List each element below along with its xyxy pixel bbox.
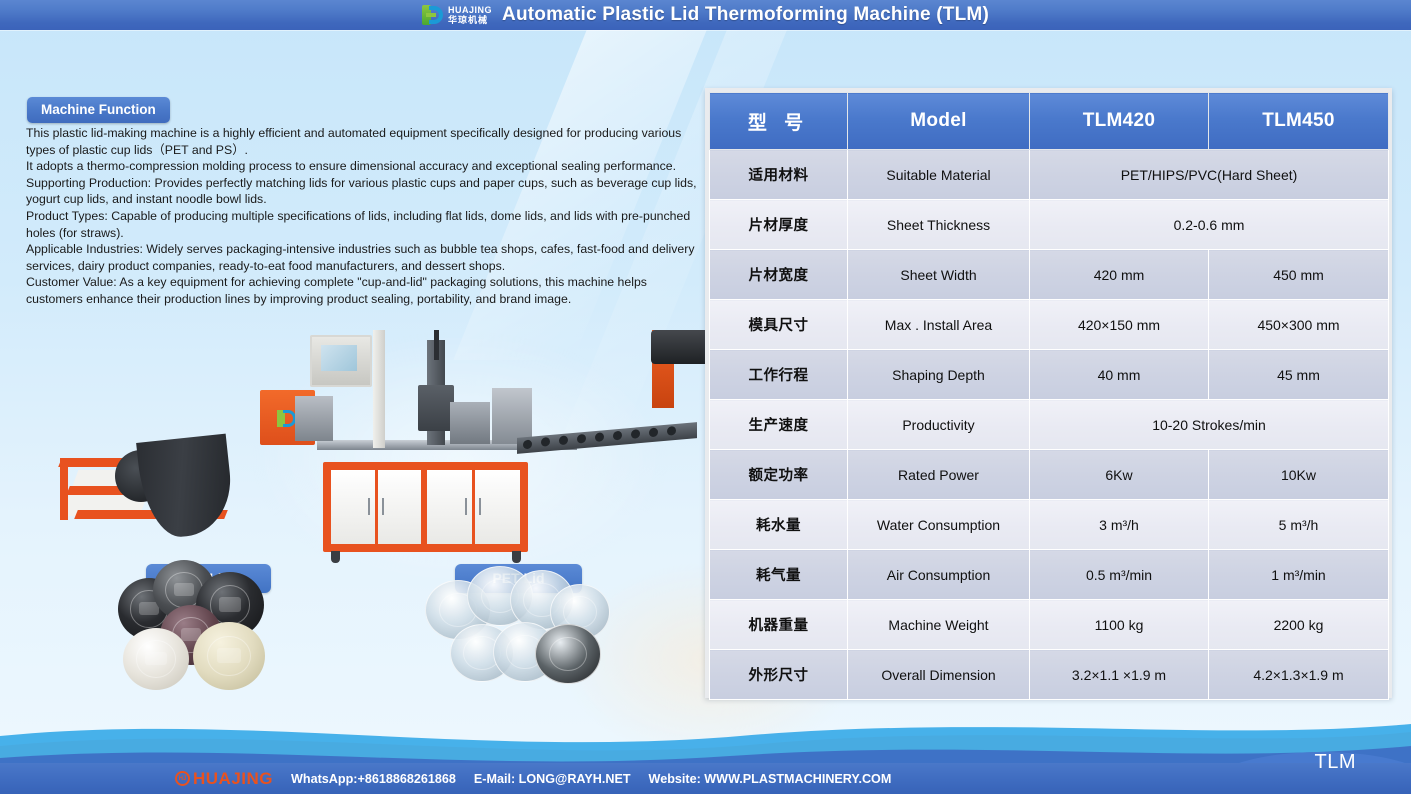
table-row: 外形尺寸Overall Dimension3.2×1.1 ×1.9 m4.2×1… xyxy=(710,650,1389,700)
spec-label-en: Productivity xyxy=(848,400,1030,450)
spec-value-tlm420: 6Kw xyxy=(1030,450,1209,500)
spec-value-shared: 0.2-0.6 mm xyxy=(1030,200,1389,250)
spec-label-en: Sheet Thickness xyxy=(848,200,1030,250)
tlm-badge: TLM xyxy=(1315,751,1357,774)
footer-logo: HJ HUAJING xyxy=(175,769,273,789)
door-split-right xyxy=(472,470,475,544)
footer-whatsapp[interactable]: WhatsApp:+8618868261868 xyxy=(291,772,456,786)
footer-brand-name: HUAJING xyxy=(193,769,273,789)
header-tlm450: TLM450 xyxy=(1209,93,1389,150)
spec-table-container: 型 号 Model TLM420 TLM450 适用材料Suitable Mat… xyxy=(705,88,1392,698)
spec-value-tlm450: 1 m³/min xyxy=(1209,550,1389,600)
table-row: 生产速度Productivity10-20 Strokes/min xyxy=(710,400,1389,450)
spec-value-tlm450: 450 mm xyxy=(1209,250,1389,300)
spec-value-tlm450: 45 mm xyxy=(1209,350,1389,400)
spec-label-en: Sheet Width xyxy=(848,250,1030,300)
spec-label-en: Air Consumption xyxy=(848,550,1030,600)
machine-illustration xyxy=(55,330,675,570)
spec-label-cn: 片材宽度 xyxy=(710,250,848,300)
ps-lid-photo-group xyxy=(118,560,298,695)
spec-value-shared: 10-20 Strokes/min xyxy=(1030,400,1389,450)
door-split-left xyxy=(375,470,378,544)
door-handle-4 xyxy=(479,498,481,515)
mf-line-2: It adopts a thermo-compression molding p… xyxy=(26,158,702,175)
footer-email[interactable]: E-Mail: LONG@RAYH.NET xyxy=(474,772,631,786)
mf-line-1: This plastic lid-making machine is a hig… xyxy=(26,125,702,158)
footer-bar: HJ HUAJING WhatsApp:+8618868261868 E-Mai… xyxy=(0,763,1411,794)
table-row: 片材宽度Sheet Width420 mm450 mm xyxy=(710,250,1389,300)
pet-lid-photo-group xyxy=(425,562,610,690)
spec-value-tlm450: 2200 kg xyxy=(1209,600,1389,650)
spec-label-cn: 机器重量 xyxy=(710,600,848,650)
table-row: 适用材料Suitable MaterialPET/HIPS/PVC(Hard S… xyxy=(710,150,1389,200)
spec-label-en: Overall Dimension xyxy=(848,650,1030,700)
feed-mechanism xyxy=(295,396,333,441)
table-header-row: 型 号 Model TLM420 TLM450 xyxy=(710,93,1389,150)
press-rod xyxy=(434,330,439,360)
spec-label-cn: 额定功率 xyxy=(710,450,848,500)
huajing-logo: HUAJING 华琼机械 xyxy=(422,5,492,25)
table-row: 片材厚度Sheet Thickness0.2-0.6 mm xyxy=(710,200,1389,250)
spec-label-cn: 生产速度 xyxy=(710,400,848,450)
control-panel-screen xyxy=(321,345,357,371)
cabinet-logo-icon xyxy=(277,410,297,427)
spec-value-tlm420: 420×150 mm xyxy=(1030,300,1209,350)
spec-label-en: Max . Install Area xyxy=(848,300,1030,350)
spec-value-tlm420: 3 m³/h xyxy=(1030,500,1209,550)
spec-label-cn: 耗气量 xyxy=(710,550,848,600)
spec-value-tlm450: 5 m³/h xyxy=(1209,500,1389,550)
table-row: 耗气量Air Consumption0.5 m³/min1 m³/min xyxy=(710,550,1389,600)
mf-line-6: Customer Value: As a key equipment for a… xyxy=(26,274,702,307)
cutting-station xyxy=(450,402,490,444)
page-title: Automatic Plastic Lid Thermoforming Mach… xyxy=(502,4,989,26)
plastic-film-web xyxy=(136,434,236,541)
spec-value-tlm450: 450×300 mm xyxy=(1209,300,1389,350)
output-conveyor xyxy=(517,422,697,454)
huajing-logo-icon xyxy=(422,5,444,25)
spec-value-tlm420: 3.2×1.1 ×1.9 m xyxy=(1030,650,1209,700)
spec-label-en: Water Consumption xyxy=(848,500,1030,550)
ps-lid-cream-1 xyxy=(193,622,265,690)
door-handle-2 xyxy=(382,498,384,515)
table-row: 工作行程Shaping Depth40 mm45 mm xyxy=(710,350,1389,400)
spec-table-body: 适用材料Suitable MaterialPET/HIPS/PVC(Hard S… xyxy=(710,150,1389,700)
header-model-cn: 型 号 xyxy=(710,93,848,150)
spec-value-tlm450: 10Kw xyxy=(1209,450,1389,500)
header-tlm420: TLM420 xyxy=(1030,93,1209,150)
spec-label-cn: 耗水量 xyxy=(710,500,848,550)
stacking-station xyxy=(492,388,532,444)
machine-function-text: This plastic lid-making machine is a hig… xyxy=(26,125,702,308)
spec-value-tlm450: 4.2×1.3×1.9 m xyxy=(1209,650,1389,700)
machine-function-badge: Machine Function xyxy=(27,97,170,123)
spec-value-tlm420: 40 mm xyxy=(1030,350,1209,400)
door-handle-1 xyxy=(368,498,370,515)
spec-value-tlm420: 420 mm xyxy=(1030,250,1209,300)
mf-line-5: Applicable Industries: Widely serves pac… xyxy=(26,241,702,274)
huajing-logo-text: HUAJING 华琼机械 xyxy=(448,6,492,25)
spec-value-shared: PET/HIPS/PVC(Hard Sheet) xyxy=(1030,150,1389,200)
footer-website[interactable]: Website: WWW.PLASTMACHINERY.COM xyxy=(649,772,892,786)
spec-label-cn: 模具尺寸 xyxy=(710,300,848,350)
spec-label-en: Shaping Depth xyxy=(848,350,1030,400)
pet-lid-7 xyxy=(535,624,601,684)
door-handle-3 xyxy=(465,498,467,515)
table-row: 耗水量Water Consumption3 m³/h5 m³/h xyxy=(710,500,1389,550)
mf-line-4: Product Types: Capable of producing mult… xyxy=(26,208,702,241)
spec-label-cn: 片材厚度 xyxy=(710,200,848,250)
table-row: 额定功率Rated Power6Kw10Kw xyxy=(710,450,1389,500)
press-head xyxy=(418,385,454,431)
logo-text-cn: 华琼机械 xyxy=(448,16,492,25)
ps-lid-white-1 xyxy=(123,628,189,690)
title-bar: HUAJING 华琼机械 Automatic Plastic Lid Therm… xyxy=(0,0,1411,30)
slide-canvas: HUAJING 华琼机械 Automatic Plastic Lid Therm… xyxy=(0,0,1411,794)
spec-label-en: Machine Weight xyxy=(848,600,1030,650)
mf-line-3: Supporting Production: Provides perfectl… xyxy=(26,175,702,208)
spec-label-en: Rated Power xyxy=(848,450,1030,500)
spec-label-cn: 工作行程 xyxy=(710,350,848,400)
spec-label-cn: 外形尺寸 xyxy=(710,650,848,700)
table-row: 模具尺寸Max . Install Area420×150 mm450×300 … xyxy=(710,300,1389,350)
spec-label-cn: 适用材料 xyxy=(710,150,848,200)
support-post xyxy=(373,330,385,448)
logo-text-en: HUAJING xyxy=(448,6,492,15)
cabinet-foot-left xyxy=(331,551,340,563)
spec-value-tlm420: 0.5 m³/min xyxy=(1030,550,1209,600)
footer-logo-icon: HJ xyxy=(175,771,190,786)
spec-label-en: Suitable Material xyxy=(848,150,1030,200)
table-row: 机器重量Machine Weight1100 kg2200 kg xyxy=(710,600,1389,650)
spec-table: 型 号 Model TLM420 TLM450 适用材料Suitable Mat… xyxy=(709,92,1389,700)
header-model-en: Model xyxy=(848,93,1030,150)
spec-value-tlm420: 1100 kg xyxy=(1030,600,1209,650)
